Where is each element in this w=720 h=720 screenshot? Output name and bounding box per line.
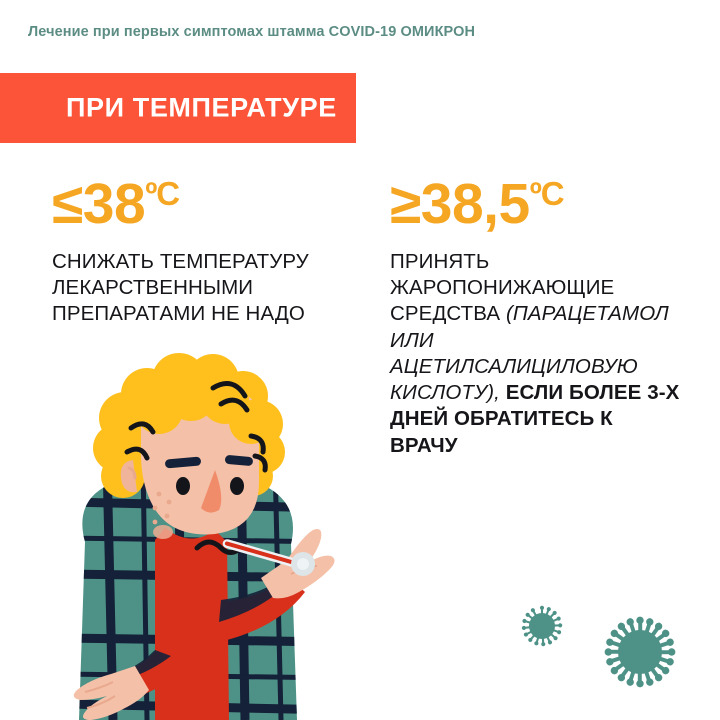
banner-label: ПРИ ТЕМПЕРАТУРЕ [66,93,337,124]
instruction-text-high: ПРИНЯТЬ ЖАРОПОНИЖАЮЩИЕ СРЕДСТВА (ПАРАЦЕТ… [390,249,680,459]
column-high-temperature: ≥38,5ºC ПРИНЯТЬ ЖАРОПОНИЖАЮЩИЕ СРЕДСТВА … [390,176,680,459]
sick-person-illustration [55,352,345,720]
instruction-text-low: СНИЖАТЬ ТЕМПЕРАТУРУ ЛЕКАРСТВЕННЫМИ ПРЕПА… [52,249,352,328]
column-low-temperature: ≤38ºC СНИЖАТЬ ТЕМПЕРАТУРУ ЛЕКАРСТВЕННЫМИ… [52,176,352,328]
page-title: Лечение при первых симптомах штамма COVI… [28,24,475,40]
virus-particle-small [516,600,568,657]
virus-particle-large [596,608,684,701]
temperature-value-low: ≤38 [52,172,145,236]
degree-symbol-low: ºC [145,175,179,212]
temperature-value-high: ≥38,5 [390,172,530,236]
section-banner: ПРИ ТЕМПЕРАТУРЕ [0,73,356,143]
infographic-page: Лечение при первых симптомах штамма COVI… [0,0,720,720]
temperature-threshold-low: ≤38ºC [52,176,352,233]
degree-symbol-high: ºC [530,175,564,212]
temperature-threshold-high: ≥38,5ºC [390,176,680,233]
